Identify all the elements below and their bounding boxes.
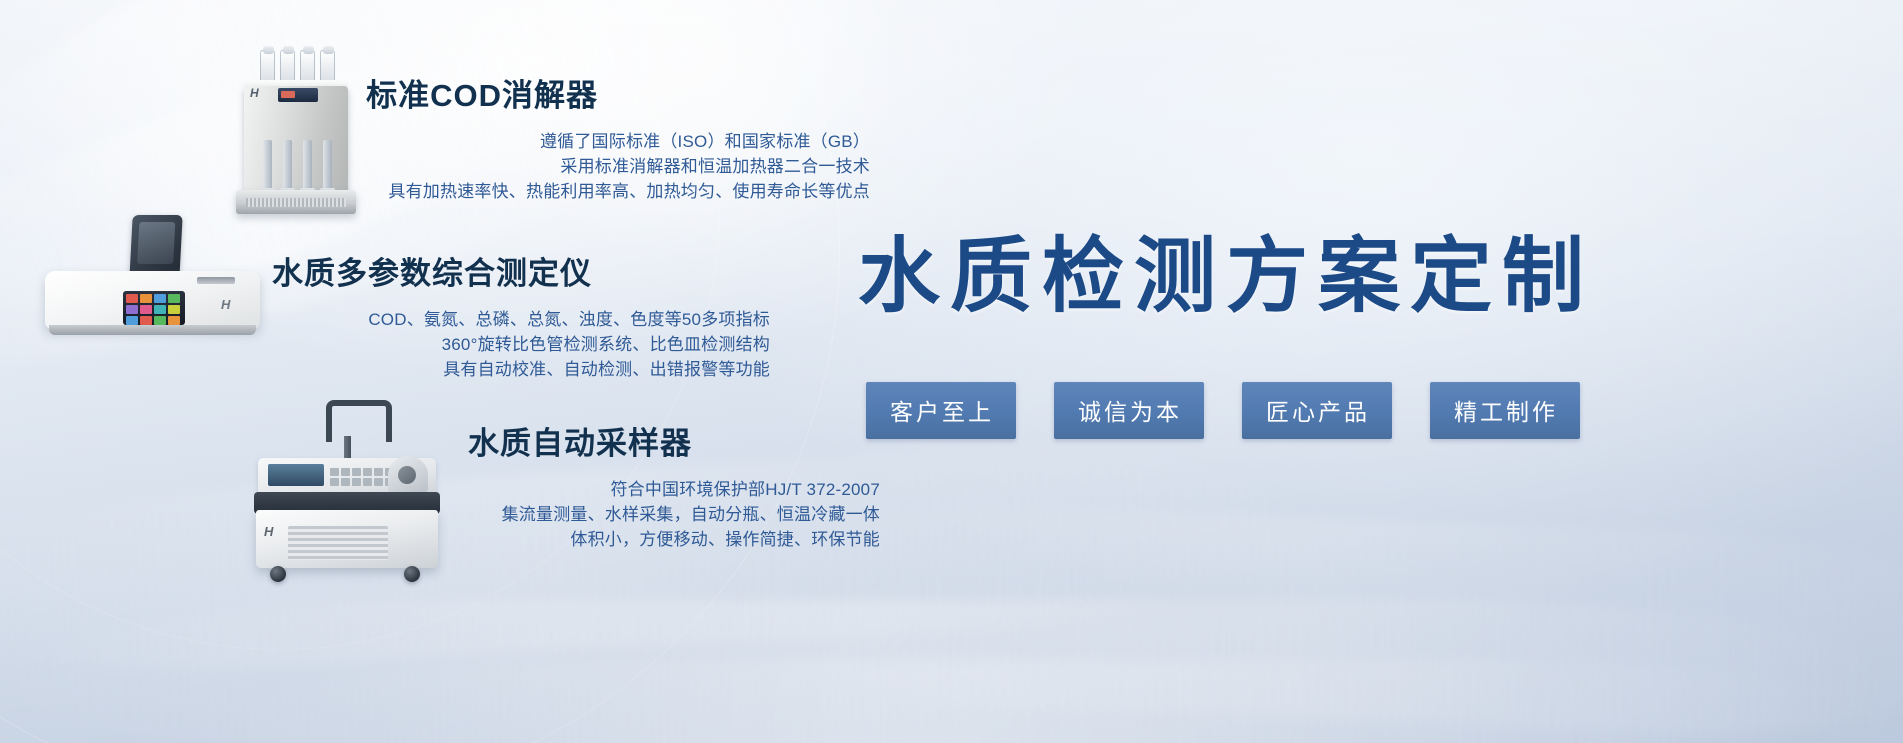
product-description-line: 集流量测量、水样采集，自动分瓶、恒温冷藏一体: [380, 502, 880, 527]
product-block-1: 标准COD消解器 遵循了国际标准（ISO）和国家标准（GB） 采用标准消解器和恒…: [300, 70, 870, 204]
product-description-line: 体积小，方便移动、操作简捷、环保节能: [380, 527, 880, 552]
badge-fine-manufacturing[interactable]: 精工制作: [1430, 382, 1580, 439]
product-description: COD、氨氮、总磷、总氮、浊度、色度等50多项指标 360°旋转比色管检测系统、…: [200, 307, 770, 382]
badge-craftsmanship[interactable]: 匠心产品: [1242, 382, 1392, 439]
product-description-line: 采用标准消解器和恒温加热器二合一技术: [300, 154, 870, 179]
product-description-line: 符合中国环境保护部HJ/T 372-2007: [380, 477, 880, 502]
product-description: 遵循了国际标准（ISO）和国家标准（GB） 采用标准消解器和恒温加热器二合一技术…: [300, 129, 870, 204]
product-title: 水质多参数综合测定仪: [200, 248, 770, 293]
product-description-line: 具有加热速率快、热能利用率高、加热均匀、使用寿命长等优点: [300, 179, 870, 204]
product-block-3: 水质自动采样器 符合中国环境保护部HJ/T 372-2007 集流量测量、水样采…: [380, 418, 880, 552]
product-description-line: 360°旋转比色管检测系统、比色皿检测结构: [200, 332, 770, 357]
product-block-2: 水质多参数综合测定仪 COD、氨氮、总磷、总氮、浊度、色度等50多项指标 360…: [200, 248, 770, 382]
badge-customer-first[interactable]: 客户至上: [866, 382, 1016, 439]
product-description: 符合中国环境保护部HJ/T 372-2007 集流量测量、水样采集，自动分瓶、恒…: [380, 477, 880, 552]
badge-integrity[interactable]: 诚信为本: [1054, 382, 1204, 439]
product-description-line: 具有自动校准、自动检测、出错报警等功能: [200, 357, 770, 382]
water-quality-banner: H 标准COD消解器 遵循了国际标准（ISO）和国家标准（GB） 采用标准消解器…: [0, 0, 1903, 743]
product-title: 标准COD消解器: [300, 70, 870, 115]
product-title: 水质自动采样器: [380, 418, 880, 463]
product-description-line: 遵循了国际标准（ISO）和国家标准（GB）: [300, 129, 870, 154]
banner-headline: 水质检测方案定制: [858, 236, 1858, 318]
product-description-line: COD、氨氮、总磷、总氮、浊度、色度等50多项指标: [200, 307, 770, 332]
badge-list: 客户至上 诚信为本 匠心产品 精工制作: [866, 382, 1580, 439]
